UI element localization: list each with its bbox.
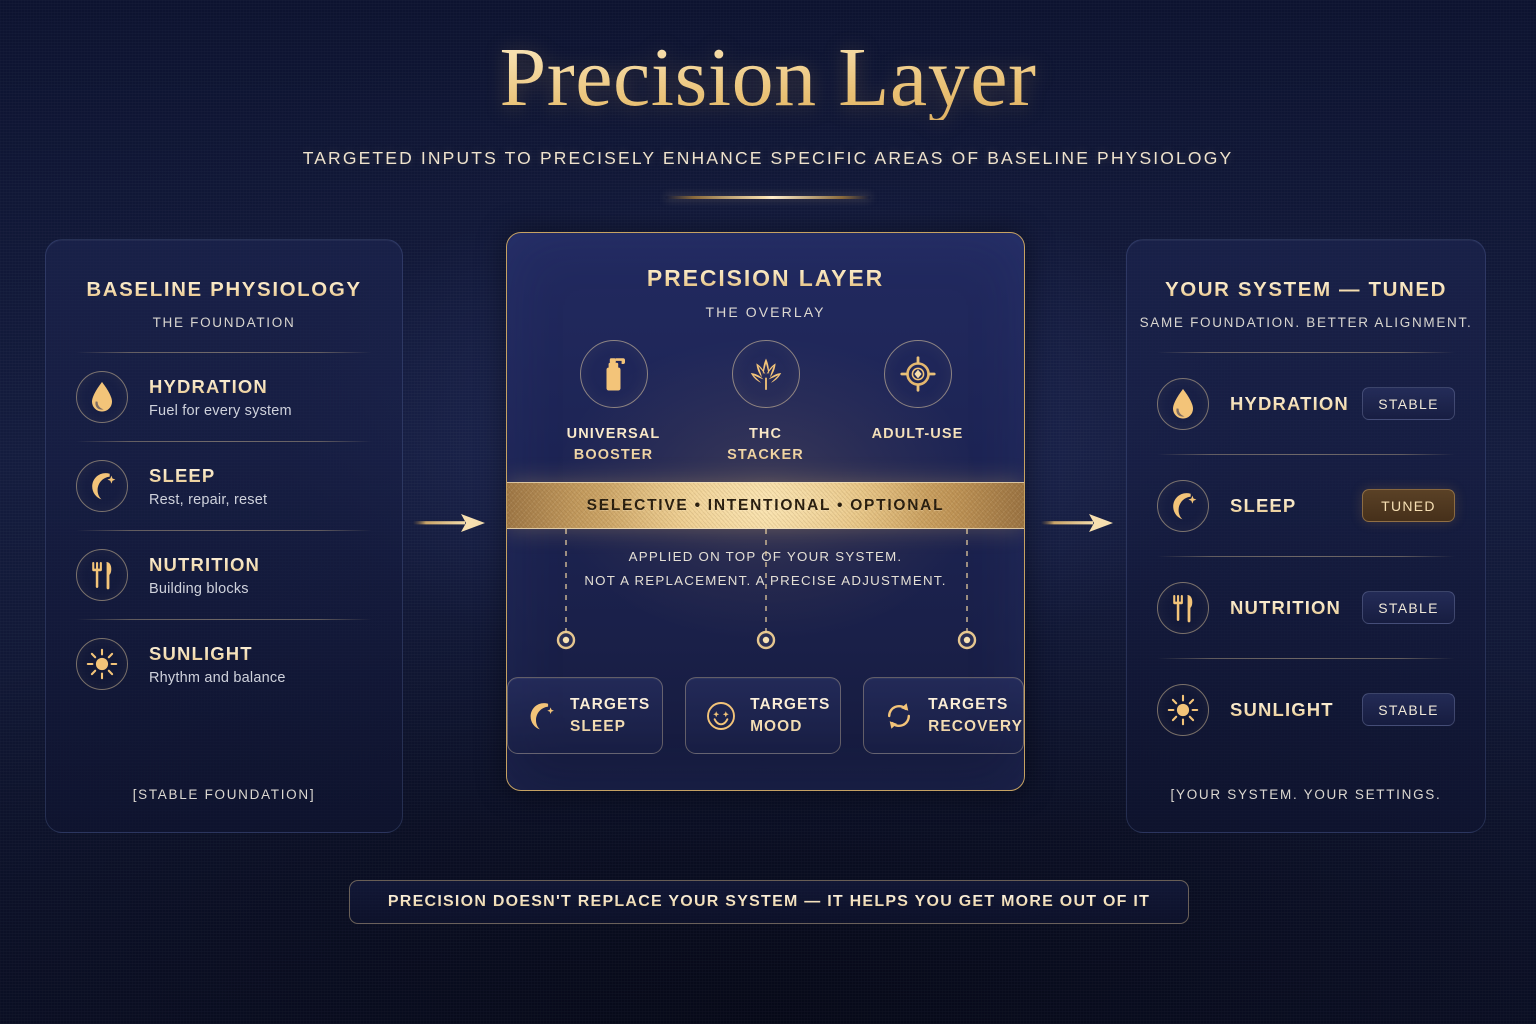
left-panel-subtitle: THE FOUNDATION	[46, 315, 402, 330]
band-label: SELECTIVE • INTENTIONAL • OPTIONAL	[587, 497, 945, 515]
row-text: SUNLIGHT Rhythm and balance	[149, 643, 286, 686]
list-item-desc: Rhythm and balance	[149, 670, 286, 686]
icon-ring	[76, 371, 128, 423]
list-item[interactable]: SUNLIGHT Rhythm and balance	[46, 620, 402, 708]
icon-ring	[76, 460, 128, 512]
target-card-mood[interactable]: TARGETSMOOD	[685, 677, 841, 754]
icon-ring	[76, 638, 128, 690]
target-card-label: TARGETSSLEEP	[570, 694, 650, 738]
target-card-sleep[interactable]: TARGETSSLEEP	[507, 677, 663, 754]
status-badge[interactable]: STABLE	[1362, 387, 1455, 420]
spray-bottle-icon	[598, 354, 630, 394]
precision-option-universal-booster[interactable]: UNIVERSALBOOSTER	[564, 340, 664, 465]
right-panel-subtitle: SAME FOUNDATION. BETTER ALIGNMENT.	[1127, 315, 1485, 330]
icon-ring	[580, 340, 648, 408]
center-panel-note: APPLIED ON TOP OF YOUR SYSTEM. NOT A REP…	[507, 545, 1024, 592]
arrow-right-icon	[1041, 510, 1115, 536]
baseline-physiology-panel: BASELINE PHYSIOLOGY THE FOUNDATION HYDRA…	[45, 239, 403, 833]
precision-layer-panel: PRECISION LAYER THE OVERLAY UNIVERSALBOO…	[506, 232, 1025, 791]
target-card-label: TARGETSMOOD	[750, 694, 830, 738]
refresh-cycle-icon	[883, 700, 915, 732]
row-text: HYDRATION	[1230, 393, 1349, 415]
list-item[interactable]: NUTRITION STABLE	[1127, 557, 1485, 658]
list-item-desc: Rest, repair, reset	[149, 492, 267, 508]
right-panel-title: YOUR SYSTEM — TUNED	[1127, 278, 1485, 302]
target-card-group: TARGETSSLEEP TARGETSMOOD TARGE	[507, 677, 1024, 754]
icon-ring	[732, 340, 800, 408]
icon-ring	[76, 549, 128, 601]
crescent-moon-icon	[527, 701, 557, 731]
center-panel-title: PRECISION LAYER	[507, 265, 1024, 292]
list-item-title: NUTRITION	[1230, 597, 1341, 619]
left-panel-footer: [STABLE FOUNDATION]	[46, 787, 402, 802]
right-panel-footer: [YOUR SYSTEM. YOUR SETTINGS.	[1127, 787, 1485, 802]
sun-icon	[1167, 694, 1199, 726]
list-item-title: SLEEP	[149, 465, 267, 487]
list-item[interactable]: HYDRATION STABLE	[1127, 353, 1485, 454]
precision-option-thc-stacker[interactable]: THCSTACKER	[716, 340, 816, 465]
list-item-desc: Building blocks	[149, 581, 260, 597]
bottom-banner-text: PRECISION DOESN'T REPLACE YOUR SYSTEM — …	[388, 893, 1150, 911]
row-text: NUTRITION Building blocks	[149, 554, 260, 597]
sun-icon	[86, 648, 118, 680]
crescent-moon-icon	[1168, 491, 1198, 521]
infographic-stage: Precision Layer TARGETED INPUTS TO PRECI…	[0, 0, 1536, 1024]
list-item-title: HYDRATION	[149, 376, 292, 398]
icon-ring	[1157, 582, 1209, 634]
list-item-title: SUNLIGHT	[1230, 699, 1334, 721]
target-card-label: TARGETSRECOVERY	[928, 694, 1023, 738]
crosshair-target-icon	[899, 355, 937, 393]
icon-ring	[1157, 480, 1209, 532]
row-text: SLEEP Rest, repair, reset	[149, 465, 267, 508]
target-card-recovery[interactable]: TARGETSRECOVERY	[863, 677, 1024, 754]
page-subtitle: TARGETED INPUTS TO PRECISELY ENHANCE SPE…	[0, 148, 1536, 169]
list-item-title: HYDRATION	[1230, 393, 1349, 415]
fork-knife-icon	[1169, 593, 1197, 623]
list-item[interactable]: SLEEP TUNED	[1127, 455, 1485, 556]
list-item[interactable]: SUNLIGHT STABLE	[1127, 659, 1485, 760]
precision-option-label: ADULT-USE	[868, 424, 968, 445]
list-item[interactable]: SLEEP Rest, repair, reset	[46, 442, 402, 530]
icon-ring	[884, 340, 952, 408]
arrow-right-icon	[413, 510, 487, 536]
precision-option-label: UNIVERSALBOOSTER	[564, 424, 664, 465]
precision-icon-group: UNIVERSALBOOSTER	[507, 340, 1024, 465]
list-item-desc: Fuel for every system	[149, 403, 292, 419]
fork-knife-icon	[88, 560, 116, 590]
icon-ring	[1157, 378, 1209, 430]
smiley-face-icon	[705, 700, 737, 732]
status-badge[interactable]: STABLE	[1362, 693, 1455, 726]
note-line-1: APPLIED ON TOP OF YOUR SYSTEM.	[507, 545, 1024, 569]
list-item-title: SLEEP	[1230, 495, 1296, 517]
status-badge[interactable]: TUNED	[1362, 489, 1455, 522]
crescent-moon-icon	[87, 471, 117, 501]
water-drop-icon	[1170, 388, 1196, 420]
precision-option-label: THCSTACKER	[716, 424, 816, 465]
note-line-2: NOT A REPLACEMENT. A PRECISE ADJUSTMENT.	[507, 569, 1024, 593]
page-title: Precision Layer	[0, 36, 1536, 120]
cannabis-leaf-icon	[747, 355, 785, 393]
header-divider	[666, 196, 871, 199]
list-item[interactable]: NUTRITION Building blocks	[46, 531, 402, 619]
precision-option-adult-use[interactable]: ADULT-USE	[868, 340, 968, 465]
list-item[interactable]: HYDRATION Fuel for every system	[46, 353, 402, 441]
icon-ring	[1157, 684, 1209, 736]
bottom-banner: PRECISION DOESN'T REPLACE YOUR SYSTEM — …	[349, 880, 1189, 924]
water-drop-icon	[89, 381, 115, 413]
selective-intentional-optional-band: SELECTIVE • INTENTIONAL • OPTIONAL	[507, 482, 1024, 529]
row-text: HYDRATION Fuel for every system	[149, 376, 292, 419]
row-text: SUNLIGHT	[1230, 699, 1334, 721]
your-system-tuned-panel: YOUR SYSTEM — TUNED SAME FOUNDATION. BET…	[1126, 239, 1486, 833]
center-panel-subtitle: THE OVERLAY	[507, 304, 1024, 320]
left-panel-title: BASELINE PHYSIOLOGY	[46, 278, 402, 302]
list-item-title: NUTRITION	[149, 554, 260, 576]
center-panel-footer: CHOOSE WHAT YOU WANT TO TUNE	[507, 789, 1024, 791]
list-item-title: SUNLIGHT	[149, 643, 286, 665]
status-badge[interactable]: STABLE	[1362, 591, 1455, 624]
row-text: SLEEP	[1230, 495, 1296, 517]
row-text: NUTRITION	[1230, 597, 1341, 619]
